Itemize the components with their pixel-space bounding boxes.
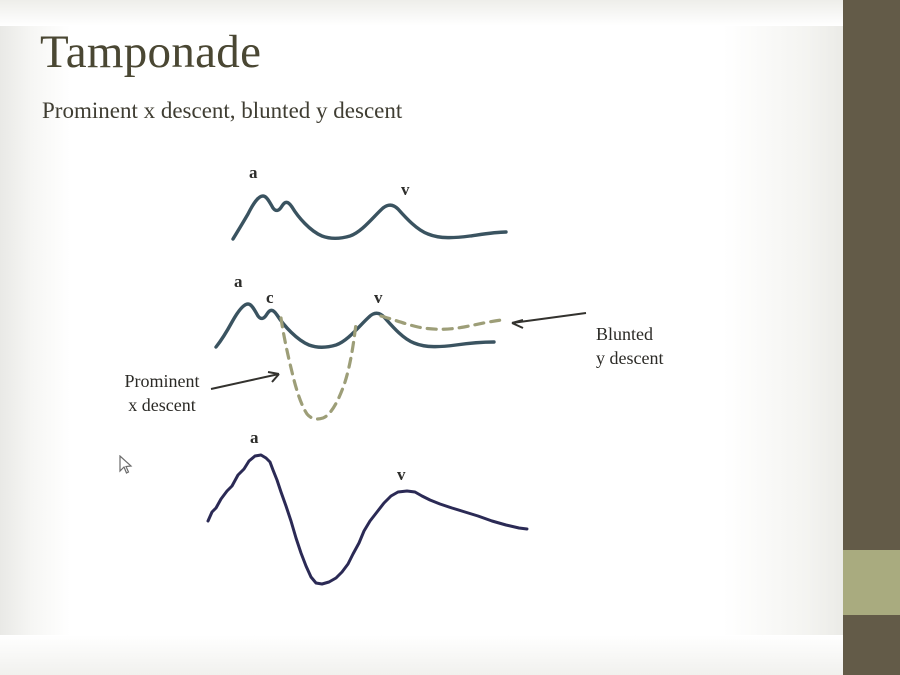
blunted-y-descent-callout-line-1: Blunted (596, 322, 736, 346)
dashed-blunted-y-descent (381, 316, 502, 329)
waveform-2-label-c: c (266, 288, 274, 308)
waveform-1-label-v: v (401, 180, 410, 200)
sidebar-lower-dark-bar (843, 615, 900, 675)
page-shadow-right (723, 0, 843, 675)
waveform-1-label-a: a (249, 163, 258, 183)
prominent-x-descent-callout: Prominent x descent (98, 369, 226, 418)
prominent-x-descent-callout-line-2: x descent (98, 393, 226, 417)
blunted-y-descent-callout-line-2: y descent (596, 346, 736, 370)
sidebar-accent-block (843, 550, 900, 615)
waveform-2-label-a: a (234, 272, 243, 292)
mouse-cursor-icon (118, 455, 134, 477)
blunted-y-descent-callout: Blunted y descent (596, 322, 736, 371)
blunted-y-descent-arrow-line (512, 313, 586, 323)
waveform-3-trace (208, 455, 527, 584)
page-shadow-bottom (0, 635, 843, 675)
page-title: Tamponade (40, 28, 261, 77)
waveform-1-trace (233, 196, 506, 239)
sidebar-upper-dark-bar (843, 0, 900, 550)
prominent-x-descent-callout-line-1: Prominent (98, 369, 226, 393)
slide-canvas: Tamponade Prominent x descent, blunted y… (0, 0, 900, 675)
waveform-2-label-v: v (374, 288, 383, 308)
waveform-3-label-a: a (250, 428, 259, 448)
prominent-x-descent-arrow-head (268, 372, 279, 382)
waveform-2-trace (216, 304, 494, 347)
waveform-3-label-v: v (397, 465, 406, 485)
dashed-prominent-x-descent (281, 318, 356, 419)
page-shadow-top (0, 0, 843, 26)
blunted-y-descent-arrow-head (512, 320, 523, 328)
page-subtitle: Prominent x descent, blunted y descent (42, 98, 402, 124)
